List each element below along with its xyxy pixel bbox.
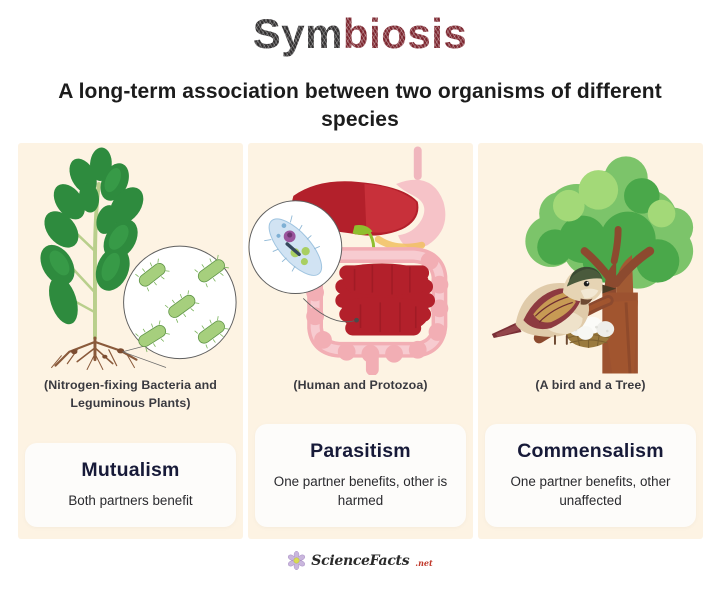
panel-group: (Nitrogen-fixing Bacteria and Leguminous… (18, 143, 703, 539)
card-desc-commensalism: One partner benefits, other unaffected (493, 472, 688, 510)
footer-tld: .net (415, 558, 432, 570)
panel-caption-commensalism: (A bird and a Tree) (527, 375, 653, 423)
panel-mutualism: (Nitrogen-fixing Bacteria and Leguminous… (18, 143, 243, 539)
card-parasitism: Parasitism One partner benefits, other i… (255, 424, 466, 527)
page-title-part-2: biosis (343, 10, 467, 57)
flower-atom-icon (287, 551, 306, 570)
card-desc-parasitism: One partner benefits, other is harmed (263, 472, 458, 510)
footer-wordmark: ScienceFacts (311, 553, 409, 569)
page-subtitle: A long-term association between two orga… (40, 78, 680, 135)
illustration-bird-nest-in-tree (478, 143, 703, 375)
card-desc-mutualism: Both partners benefit (33, 491, 228, 510)
illustration-human-digestive-system-with-protozoa (248, 143, 473, 375)
card-title-mutualism: Mutualism (33, 459, 228, 482)
page-title: Symbiosis (0, 12, 720, 56)
symbiosis-infographic: Symbiosis A long-term association betwee… (0, 0, 720, 589)
card-commensalism: Commensalism One partner benefits, other… (485, 424, 696, 527)
footer-branding[interactable]: ScienceFacts .net (0, 551, 720, 570)
panel-caption-mutualism: (Nitrogen-fixing Bacteria and Leguminous… (18, 375, 243, 423)
page-title-part-1: Sym (253, 10, 343, 57)
panel-commensalism: (A bird and a Tree) Commensalism One par… (478, 143, 703, 539)
card-title-parasitism: Parasitism (263, 440, 458, 463)
panel-caption-parasitism: (Human and Protozoa) (285, 375, 435, 423)
panel-parasitism: (Human and Protozoa) Parasitism One part… (248, 143, 473, 539)
card-title-commensalism: Commensalism (493, 440, 688, 463)
card-mutualism: Mutualism Both partners benefit (25, 443, 236, 527)
illustration-legume-plant-with-root-nodule-bacteria (18, 143, 243, 375)
